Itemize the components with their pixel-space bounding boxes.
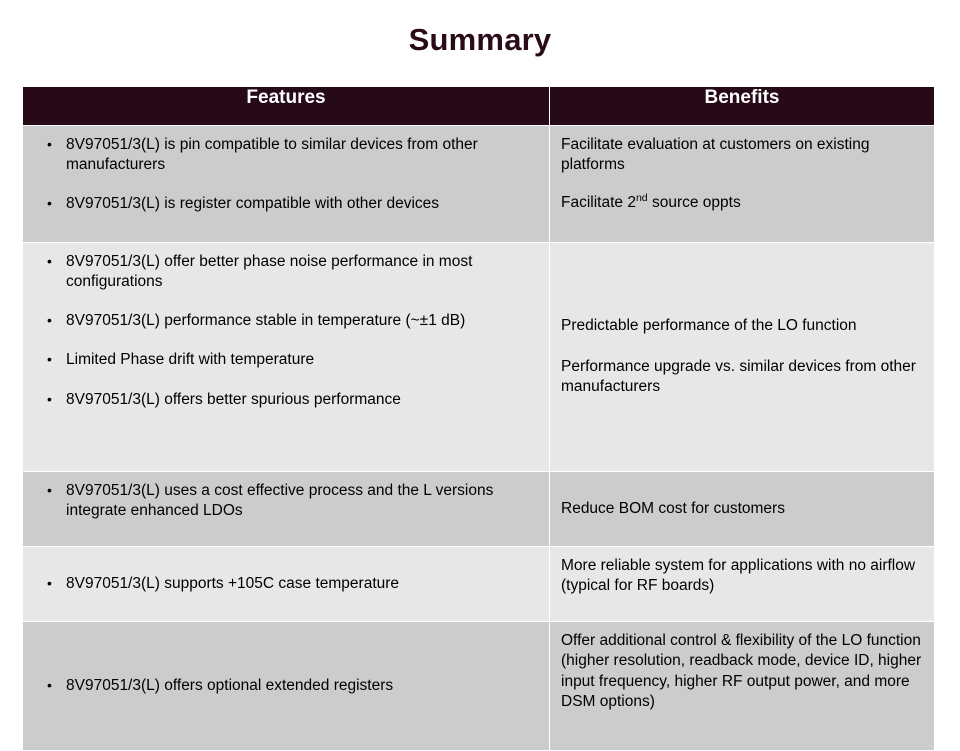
benefit-line: Predictable performance of the LO functi… — [561, 316, 922, 336]
table-row: 8V97051/3(L) is pin compatible to simila… — [23, 126, 935, 243]
cell-benefits: More reliable system for applications wi… — [550, 547, 935, 622]
table-row: 8V97051/3(L) uses a cost effective proce… — [23, 472, 935, 547]
list-item: 8V97051/3(L) uses a cost effective proce… — [29, 481, 539, 521]
column-header-features: Features — [23, 87, 550, 126]
feature-bullet-list: 8V97051/3(L) supports +105C case tempera… — [29, 574, 539, 594]
table-row: 8V97051/3(L) supports +105C case tempera… — [23, 547, 935, 622]
cell-benefits: Offer additional control & flexibility o… — [550, 622, 935, 751]
benefit-line-superscript: Facilitate 2nd source oppts — [561, 193, 922, 213]
list-item: 8V97051/3(L) is register compatible with… — [29, 194, 539, 214]
table-header: Features Benefits — [23, 87, 935, 126]
cell-features: 8V97051/3(L) uses a cost effective proce… — [23, 472, 550, 547]
benefit-line: Offer additional control & flexibility o… — [561, 631, 922, 713]
table-row: 8V97051/3(L) offers optional extended re… — [23, 622, 935, 751]
list-item: 8V97051/3(L) is pin compatible to simila… — [29, 135, 539, 175]
list-item: 8V97051/3(L) performance stable in tempe… — [29, 311, 539, 331]
cell-benefits: Reduce BOM cost for customers — [550, 472, 935, 547]
cell-benefits: Facilitate evaluation at customers on ex… — [550, 126, 935, 243]
list-item: 8V97051/3(L) supports +105C case tempera… — [29, 574, 539, 594]
list-item: Limited Phase drift with temperature — [29, 350, 539, 370]
benefit-line: More reliable system for applications wi… — [561, 556, 922, 597]
feature-bullet-list: 8V97051/3(L) offers optional extended re… — [29, 676, 539, 696]
feature-bullet-list: 8V97051/3(L) uses a cost effective proce… — [29, 481, 539, 521]
benefit-line: Reduce BOM cost for customers — [561, 499, 922, 519]
cell-features: 8V97051/3(L) is pin compatible to simila… — [23, 126, 550, 243]
feature-bullet-list: 8V97051/3(L) is pin compatible to simila… — [29, 135, 539, 214]
feature-bullet-list: 8V97051/3(L) offer better phase noise pe… — [29, 252, 539, 410]
benefit-line: Performance upgrade vs. similar devices … — [561, 357, 922, 398]
list-item: 8V97051/3(L) offers optional extended re… — [29, 676, 539, 696]
cell-benefits: Predictable performance of the LO functi… — [550, 243, 935, 472]
benefit-text-post: source oppts — [648, 194, 741, 211]
table-row: 8V97051/3(L) offer better phase noise pe… — [23, 243, 935, 472]
page-title: Summary — [0, 22, 960, 58]
list-item: 8V97051/3(L) offer better phase noise pe… — [29, 252, 539, 292]
ordinal-suffix: nd — [636, 192, 648, 204]
slide-root: Summary Features Benefits 8V97051/3(L) i… — [0, 0, 960, 720]
column-header-benefits: Benefits — [550, 87, 935, 126]
cell-features: 8V97051/3(L) supports +105C case tempera… — [23, 547, 550, 622]
table-header-row: Features Benefits — [23, 87, 935, 126]
summary-table: Features Benefits 8V97051/3(L) is pin co… — [22, 86, 935, 751]
list-item: 8V97051/3(L) offers better spurious perf… — [29, 390, 539, 410]
benefit-text-pre: Facilitate 2 — [561, 194, 636, 211]
benefit-line: Facilitate evaluation at customers on ex… — [561, 135, 922, 175]
cell-features: 8V97051/3(L) offer better phase noise pe… — [23, 243, 550, 472]
table-body: 8V97051/3(L) is pin compatible to simila… — [23, 126, 935, 751]
cell-features: 8V97051/3(L) offers optional extended re… — [23, 622, 550, 751]
